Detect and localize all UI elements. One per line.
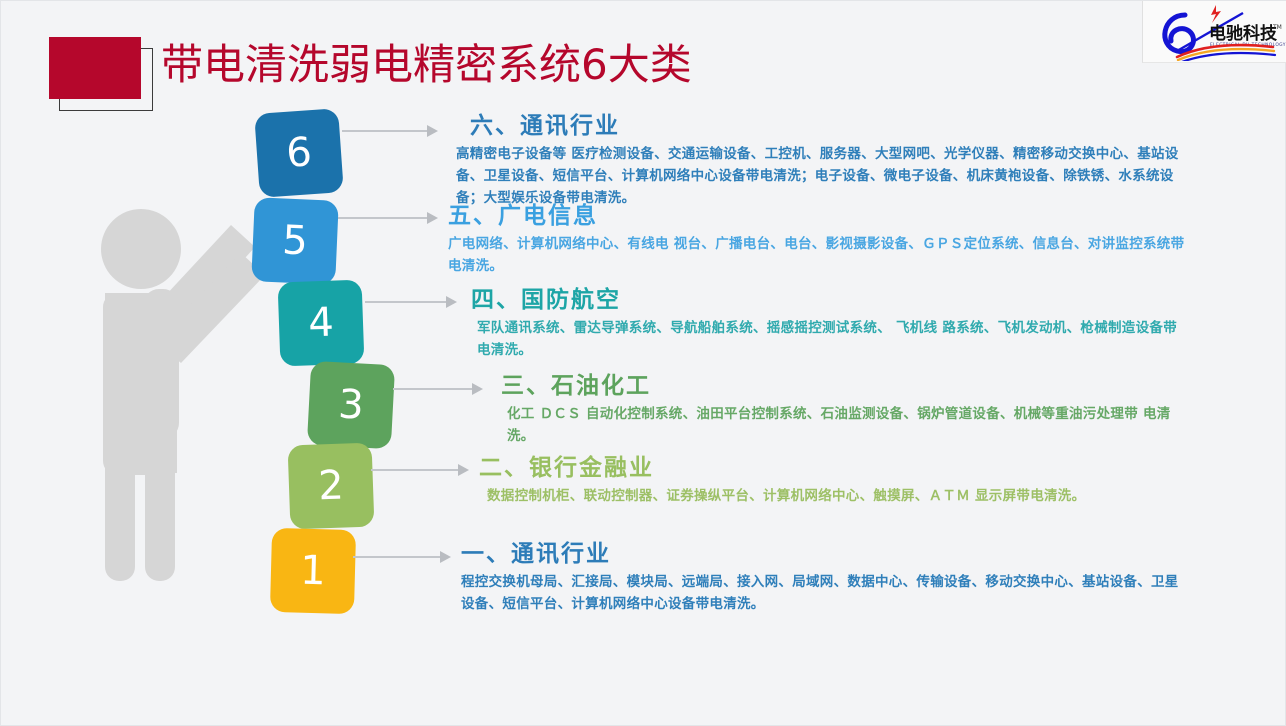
section-1-body: 程控交换机母局、汇接局、模块局、远端局、接入网、局域网、数据中心、传输设备、移动… bbox=[461, 571, 1191, 615]
section-1-heading: 一、通讯行业 bbox=[461, 539, 1191, 569]
logo-mark-icon: 电驰科技 ELECTRICAL DH TECHNOLOGY TM bbox=[1147, 1, 1286, 61]
step-box-6[interactable]: 6 bbox=[254, 108, 344, 198]
title-accent-block bbox=[49, 37, 141, 99]
step-box-1[interactable]: 1 bbox=[270, 528, 356, 614]
section-4-heading: 四、国防航空 bbox=[471, 285, 1189, 315]
section-5-body: 广电网络、计算机网络中心、有线电 视台、广播电台、电台、影视摄影设备、ＧＰＳ定位… bbox=[448, 233, 1188, 277]
connector-arrow-3 bbox=[393, 383, 483, 395]
section-5-heading: 五、广电信息 bbox=[448, 201, 1188, 231]
svg-text:电驰科技: 电驰科技 bbox=[1209, 23, 1278, 44]
section-5: 五、广电信息 广电网络、计算机网络中心、有线电 视台、广播电台、电台、影视摄影设… bbox=[448, 201, 1188, 277]
step-box-5[interactable]: 5 bbox=[251, 197, 339, 285]
step-box-3[interactable]: 3 bbox=[307, 361, 395, 449]
section-4-body: 军队通讯系统、雷达导弹系统、导航船舶系统、摇感摇控测试系统、 飞机线 路系统、飞… bbox=[471, 317, 1189, 361]
section-6: 六、通讯行业 高精密电子设备等 医疗检测设备、交通运输设备、工控机、服务器、大型… bbox=[456, 111, 1192, 209]
connector-arrow-1 bbox=[353, 551, 451, 563]
slide-canvas: 电驰科技 ELECTRICAL DH TECHNOLOGY TM 带电清洗弱电精… bbox=[0, 0, 1286, 726]
section-6-heading: 六、通讯行业 bbox=[456, 111, 1192, 141]
company-logo: 电驰科技 ELECTRICAL DH TECHNOLOGY TM bbox=[1142, 1, 1286, 63]
connector-arrow-6 bbox=[342, 125, 438, 137]
section-1: 一、通讯行业 程控交换机母局、汇接局、模块局、远端局、接入网、局域网、数据中心、… bbox=[461, 539, 1191, 615]
section-2: 二、银行金融业 数据控制机柜、联动控制器、证券操纵平台、计算机网络中心、触摸屏、… bbox=[479, 453, 1191, 507]
section-3: 三、石油化工 化工 ＤＣＳ 自动化控制系统、油田平台控制系统、石油监测设备、锅炉… bbox=[501, 371, 1191, 447]
step-box-4[interactable]: 4 bbox=[278, 280, 365, 367]
svg-text:TM: TM bbox=[1272, 24, 1282, 31]
connector-arrow-5 bbox=[338, 212, 438, 224]
section-3-heading: 三、石油化工 bbox=[501, 371, 1191, 401]
section-3-body: 化工 ＤＣＳ 自动化控制系统、油田平台控制系统、石油监测设备、锅炉管道设备、机械… bbox=[501, 403, 1191, 447]
section-2-heading: 二、银行金融业 bbox=[479, 453, 1191, 483]
page-title: 带电清洗弱电精密系统6大类 bbox=[161, 39, 692, 91]
connector-arrow-2 bbox=[371, 464, 469, 476]
section-4: 四、国防航空 军队通讯系统、雷达导弹系统、导航船舶系统、摇感摇控测试系统、 飞机… bbox=[471, 285, 1189, 361]
section-6-body: 高精密电子设备等 医疗检测设备、交通运输设备、工控机、服务器、大型网吧、光学仪器… bbox=[456, 143, 1192, 209]
section-2-body: 数据控制机柜、联动控制器、证券操纵平台、计算机网络中心、触摸屏、ＡＴＭ 显示屏带… bbox=[479, 485, 1191, 507]
step-box-2[interactable]: 2 bbox=[288, 443, 375, 530]
connector-arrow-4 bbox=[365, 296, 457, 308]
